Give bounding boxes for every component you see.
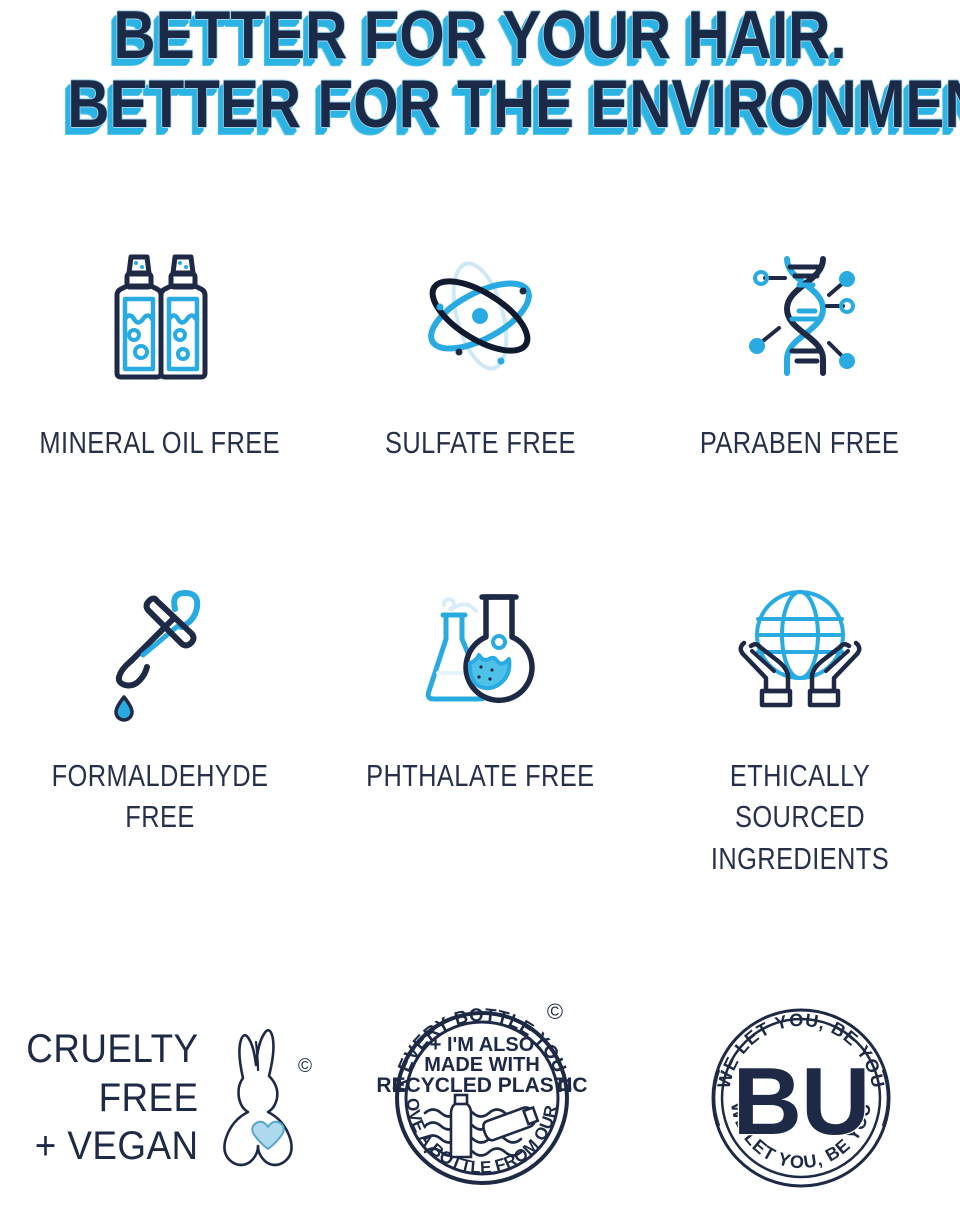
brand-monogram: BU	[732, 1048, 869, 1155]
flasks-icon	[410, 579, 550, 719]
headline-line-1: BETTER FOR YOUR HAIR.	[67, 2, 893, 69]
cruelty-free-line-2: + VEGAN	[12, 1122, 198, 1171]
icon-container	[730, 569, 870, 729]
bu-brand-seal-icon: WE LET YOU, BE YOU WE LET YOU, BE YOU BU	[705, 1002, 897, 1194]
atom-icon	[415, 251, 545, 381]
badge-brand-seal: WE LET YOU, BE YOU WE LET YOU, BE YOU BU	[641, 995, 960, 1201]
badge-row: CRUELTY FREE + VEGAN ©	[0, 995, 960, 1201]
globe-in-hands-icon	[730, 579, 870, 719]
icon-container	[95, 236, 225, 396]
feature-sulfate-free: SULFATE FREE	[320, 236, 640, 463]
feature-formaldehyde-free: FORMALDEHYDE FREE	[0, 569, 320, 879]
feature-row-2: FORMALDEHYDE FREE	[0, 569, 960, 879]
bunny-icon: ©	[213, 1030, 323, 1165]
feature-label: PARABEN FREE	[700, 422, 899, 463]
cruelty-free-copyright: ©	[298, 1056, 312, 1077]
headline-line-2: BETTER FOR THE ENVIRONMENT.	[67, 71, 893, 138]
seal-center-line-3: RECYCLED PLASTIC	[376, 1074, 587, 1097]
feature-grid: MINERAL OIL FREE	[0, 236, 960, 879]
feature-mineral-oil-free: MINERAL OIL FREE	[0, 236, 320, 463]
cruelty-free-text: CRUELTY FREE + VEGAN	[12, 1025, 198, 1171]
seal-center-line-2: MADE WITH	[424, 1054, 540, 1076]
two-bottles-icon	[95, 251, 225, 381]
icon-container	[735, 236, 865, 396]
cruelty-free-line-1: CRUELTY FREE	[26, 1027, 198, 1120]
dropper-pipette-icon	[95, 579, 225, 719]
bunny-icon-wrap: ©	[213, 1030, 323, 1165]
feature-label: SULFATE FREE	[385, 422, 576, 463]
badge-cruelty-free-vegan: CRUELTY FREE + VEGAN ©	[0, 995, 323, 1201]
feature-label: PHTHALATE FREE	[366, 755, 594, 796]
icon-container	[415, 236, 545, 396]
dna-helix-icon	[735, 251, 865, 381]
feature-phthalate-free: PHTHALATE FREE	[320, 569, 640, 879]
icon-container	[410, 569, 550, 729]
promo-infographic: BETTER FOR YOUR HAIR. BETTER FOR THE ENV…	[0, 0, 960, 1206]
recycled-plastic-seal-icon: · FOR EVERY BOTTLE YOU USE · WE REMOVE A…	[379, 995, 585, 1201]
seal-center-line-1: + I'M ALSO	[430, 1034, 535, 1056]
feature-paraben-free: PARABEN FREE	[640, 236, 960, 463]
headline-block: BETTER FOR YOUR HAIR. BETTER FOR THE ENV…	[0, 2, 960, 137]
feature-label: ETHICALLY SOURCED INGREDIENTS	[669, 755, 931, 879]
feature-label: MINERAL OIL FREE	[40, 422, 281, 463]
feature-ethically-sourced: ETHICALLY SOURCED INGREDIENTS	[640, 569, 960, 879]
badge-recycled-plastic: · FOR EVERY BOTTLE YOU USE · WE REMOVE A…	[323, 995, 642, 1201]
seal-copyright: ©	[547, 999, 563, 1024]
feature-row-1: MINERAL OIL FREE	[0, 236, 960, 463]
icon-container	[95, 569, 225, 729]
feature-label: FORMALDEHYDE FREE	[29, 755, 291, 837]
